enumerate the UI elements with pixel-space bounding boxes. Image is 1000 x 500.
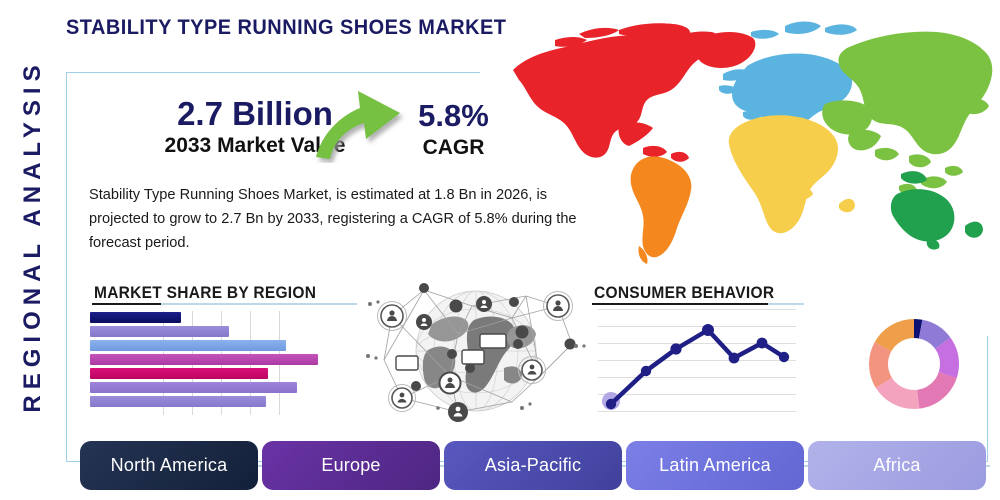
region-tab-label: North America (111, 455, 228, 476)
region-tab-europe[interactable]: Europe (262, 441, 440, 490)
consumer-behavior-heading: CONSUMER BEHAVIOR (594, 284, 774, 303)
table-row (90, 340, 286, 351)
region-tab-label: Asia-Pacific (485, 455, 581, 476)
vertical-section-label: REGIONAL ANALYSIS (19, 36, 47, 436)
market-share-heading: MARKET SHARE BY REGION (94, 284, 316, 303)
table-row (90, 382, 297, 393)
table-row (90, 354, 318, 365)
region-tab-africa[interactable]: Africa (808, 441, 986, 490)
region-tab-label: Europe (321, 455, 380, 476)
cagr-label: CAGR (396, 136, 511, 160)
market-share-bar-chart (90, 311, 318, 415)
region-tab-label: Africa (873, 455, 920, 476)
region-tab-label: Latin America (659, 455, 771, 476)
page-title: STABILITY TYPE RUNNING SHOES MARKET (66, 16, 506, 40)
consumer-behavior-underline (592, 303, 804, 305)
table-row (90, 368, 268, 379)
region-tab-asia-pacific[interactable]: Asia-Pacific (444, 441, 622, 490)
table-row (90, 312, 181, 323)
region-tabs: North America Europe Asia-Pacific Latin … (80, 441, 988, 490)
line-series (598, 307, 796, 415)
market-share-underline (92, 303, 357, 305)
cagr-number: 5.8% (396, 98, 511, 134)
table-row (90, 396, 266, 407)
infographic-root: REGIONAL ANALYSIS STABILITY TYPE RUNNING… (0, 0, 1000, 500)
region-share-donut-chart (855, 305, 973, 423)
table-row (90, 326, 229, 337)
consumer-behavior-line-chart (598, 307, 796, 415)
global-network-icon (362, 272, 590, 430)
world-map-icon (495, 8, 995, 273)
growth-arrow-icon (312, 83, 408, 163)
region-tab-latin-america[interactable]: Latin America (626, 441, 804, 490)
region-tab-north-america[interactable]: North America (80, 441, 258, 490)
